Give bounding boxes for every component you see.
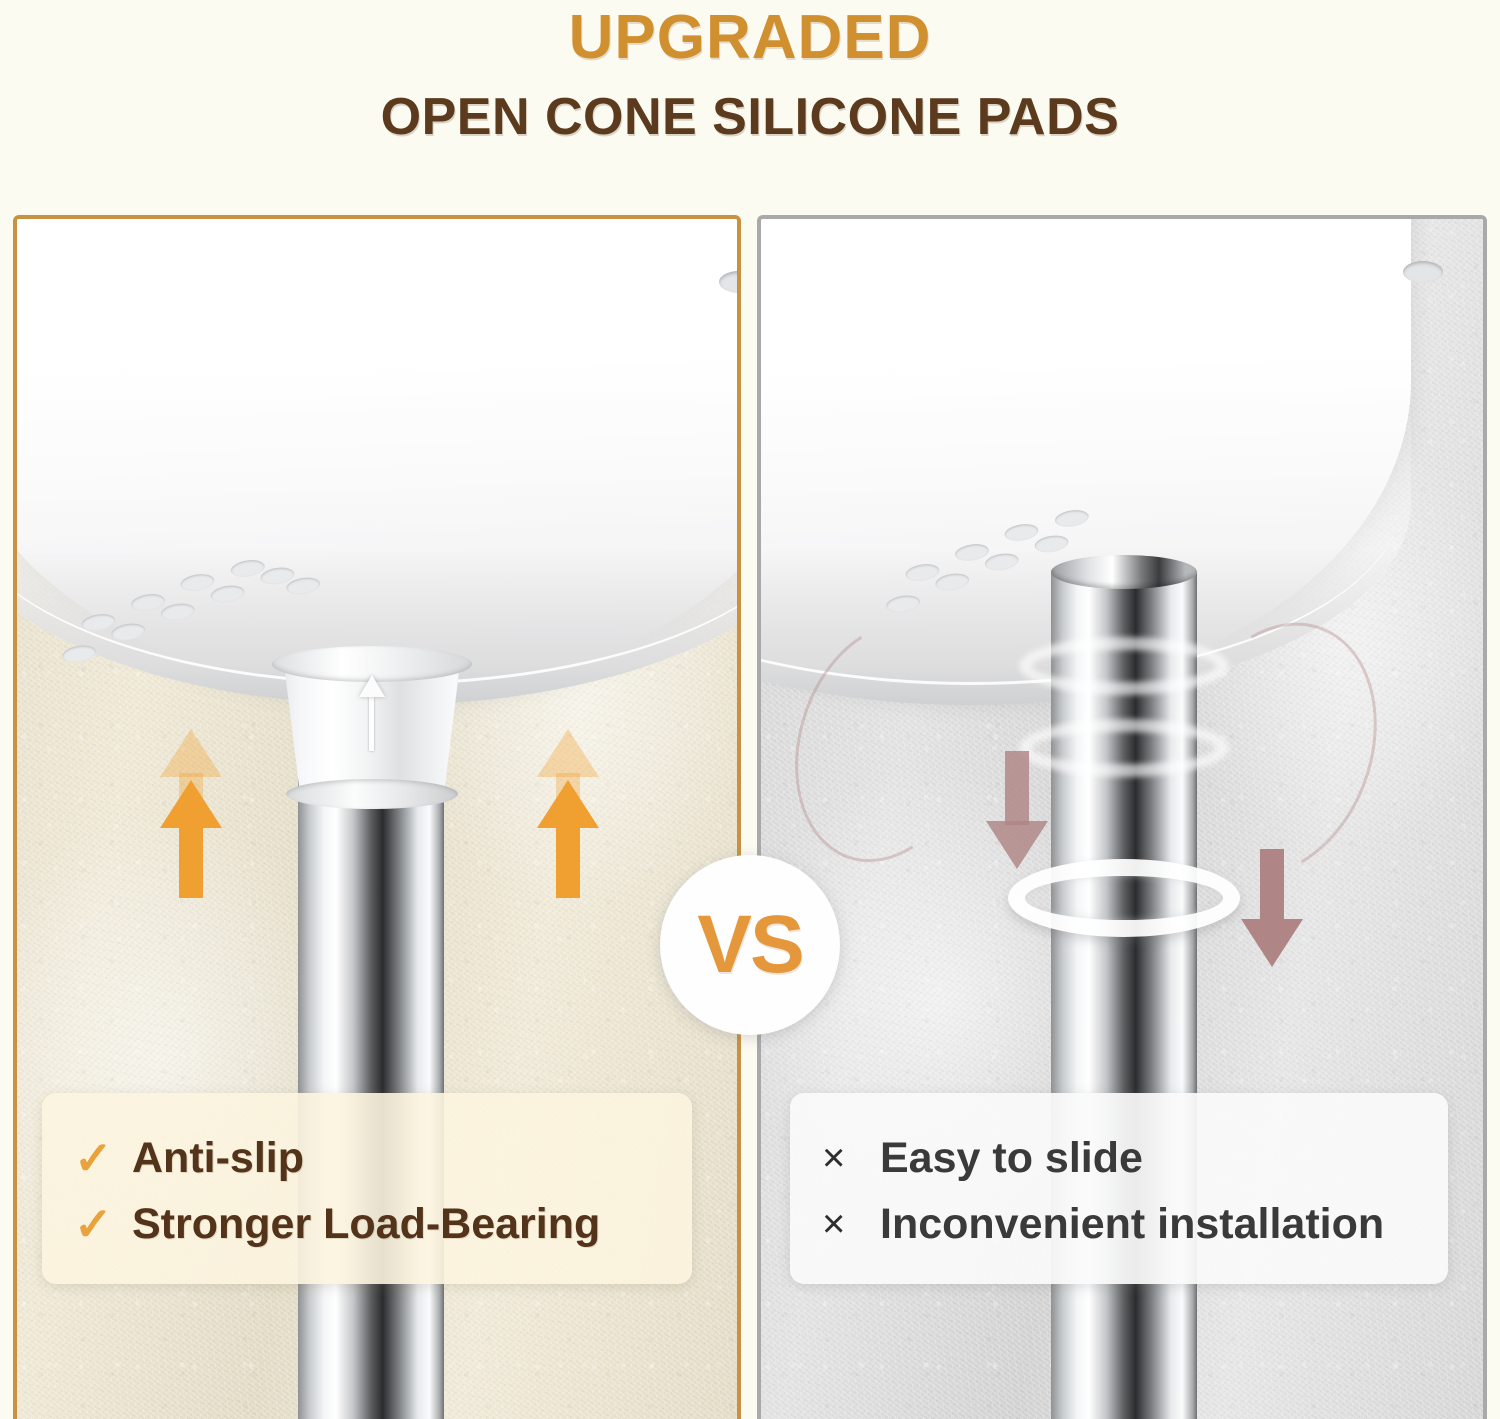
feature-label-anti-slip: Anti-slip — [132, 1134, 304, 1183]
drain-hole — [984, 551, 1020, 572]
pad-direction-arrow-shaft — [369, 697, 374, 751]
check-icon: ✓ — [74, 1135, 132, 1181]
shower-pole-right — [1051, 571, 1197, 1419]
drain-hole — [1003, 522, 1039, 543]
drain-hole — [61, 643, 97, 664]
feature-row: ✓ Stronger Load-Bearing — [74, 1191, 662, 1257]
drain-hole — [210, 583, 246, 604]
drain-hole — [885, 593, 921, 614]
feature-row: ✓ Anti-slip — [74, 1125, 662, 1191]
pros-feature-box: ✓ Anti-slip ✓ Stronger Load-Bearing — [42, 1093, 692, 1284]
drain-hole — [934, 571, 970, 592]
panel-divider — [745, 215, 752, 1419]
ring-motion-blur-upper — [1019, 637, 1229, 695]
drain-hole — [110, 621, 146, 642]
feature-row: × Inconvenient installation — [822, 1191, 1418, 1257]
slip-arrow-right — [1241, 849, 1303, 967]
lift-arrow-right — [537, 780, 599, 898]
drain-hole — [160, 601, 196, 622]
drain-hole — [80, 612, 116, 633]
drain-hole — [130, 592, 166, 613]
feature-label-load-bearing: Stronger Load-Bearing — [132, 1200, 600, 1249]
cons-feature-box: × Easy to slide × Inconvenient installat… — [790, 1093, 1448, 1284]
feature-label-inconvenient-installation: Inconvenient installation — [880, 1200, 1384, 1249]
cross-icon: × — [822, 1135, 880, 1181]
lift-arrow-left — [160, 780, 222, 898]
drain-hole — [1034, 533, 1070, 554]
loose-silicone-ring — [1008, 859, 1240, 937]
slip-arrow-left — [986, 751, 1048, 869]
shelf-corner-drain-hole — [1403, 261, 1443, 283]
vs-label: VS — [697, 904, 802, 986]
cone-pad-bottom-rim — [286, 779, 458, 809]
drain-hole — [904, 562, 940, 583]
vs-badge: VS — [660, 855, 840, 1035]
check-icon: ✓ — [74, 1201, 132, 1247]
product-comparison-infographic: UPGRADED OPEN CONE SILICONE PADS — [0, 0, 1500, 1419]
header: UPGRADED OPEN CONE SILICONE PADS — [0, 0, 1500, 210]
drain-hole — [954, 542, 990, 563]
feature-row: × Easy to slide — [822, 1125, 1418, 1191]
page-title: UPGRADED — [0, 2, 1500, 74]
page-subtitle: OPEN CONE SILICONE PADS — [0, 86, 1500, 148]
drain-hole — [179, 572, 215, 593]
pole-top-rim — [1051, 555, 1197, 589]
cross-icon: × — [822, 1201, 880, 1247]
pad-direction-arrow-icon — [359, 675, 385, 697]
feature-label-easy-to-slide: Easy to slide — [880, 1134, 1143, 1183]
